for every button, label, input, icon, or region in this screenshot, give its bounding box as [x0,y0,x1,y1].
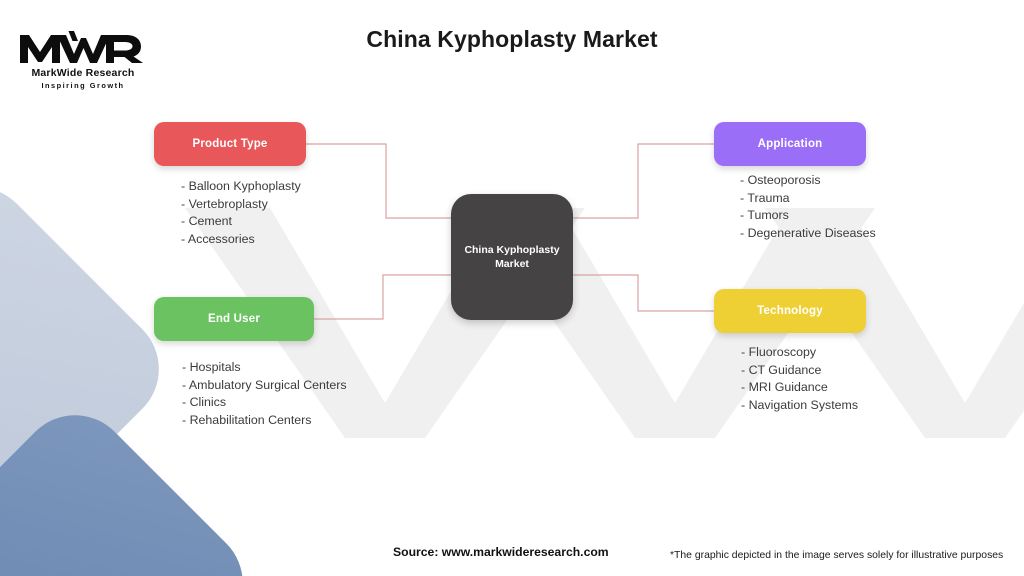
list-item: - Trauma [740,190,876,208]
list-item: - Rehabilitation Centers [182,412,347,430]
list-end-user: - Hospitals - Ambulatory Surgical Center… [182,359,347,430]
list-technology: - Fluoroscopy - CT Guidance - MRI Guidan… [741,344,858,415]
node-product-type[interactable]: Product Type [154,122,306,166]
center-label-line1: China Kyphoplasty [464,244,559,256]
connector-product-type [306,144,451,218]
list-item: - Hospitals [182,359,347,377]
page-title: China Kyphoplasty Market [0,26,1024,53]
disclaimer-text: *The graphic depicted in the image serve… [670,550,1003,561]
list-item: - Ambulatory Surgical Centers [182,377,347,395]
list-item: - Navigation Systems [741,397,858,415]
connector-application [573,144,714,218]
list-item: - CT Guidance [741,362,858,380]
list-item: - Vertebroplasty [181,196,301,214]
list-product-type: - Balloon Kyphoplasty - Vertebroplasty -… [181,178,301,249]
list-item: - Degenerative Diseases [740,225,876,243]
list-item: - Tumors [740,207,876,225]
logo-company-name: MarkWide Research [18,67,148,79]
list-item: - Accessories [181,231,301,249]
node-center-market[interactable]: China Kyphoplasty Market [451,194,573,320]
infographic-canvas: MarkWide Research Inspiring Growth China… [0,0,1024,576]
logo-tagline: Inspiring Growth [18,81,148,90]
list-application: - Osteoporosis - Trauma - Tumors - Degen… [740,172,876,243]
connector-technology [573,275,714,311]
source-text: Source: www.markwideresearch.com [393,545,609,559]
node-end-user[interactable]: End User [154,297,314,341]
list-item: - MRI Guidance [741,379,858,397]
list-item: - Fluoroscopy [741,344,858,362]
list-item: - Cement [181,213,301,231]
list-item: - Osteoporosis [740,172,876,190]
node-technology[interactable]: Technology [714,289,866,333]
node-application[interactable]: Application [714,122,866,166]
center-label-line2: Market [495,258,529,270]
list-item: - Clinics [182,394,347,412]
list-item: - Balloon Kyphoplasty [181,178,301,196]
connector-end-user [314,275,451,319]
